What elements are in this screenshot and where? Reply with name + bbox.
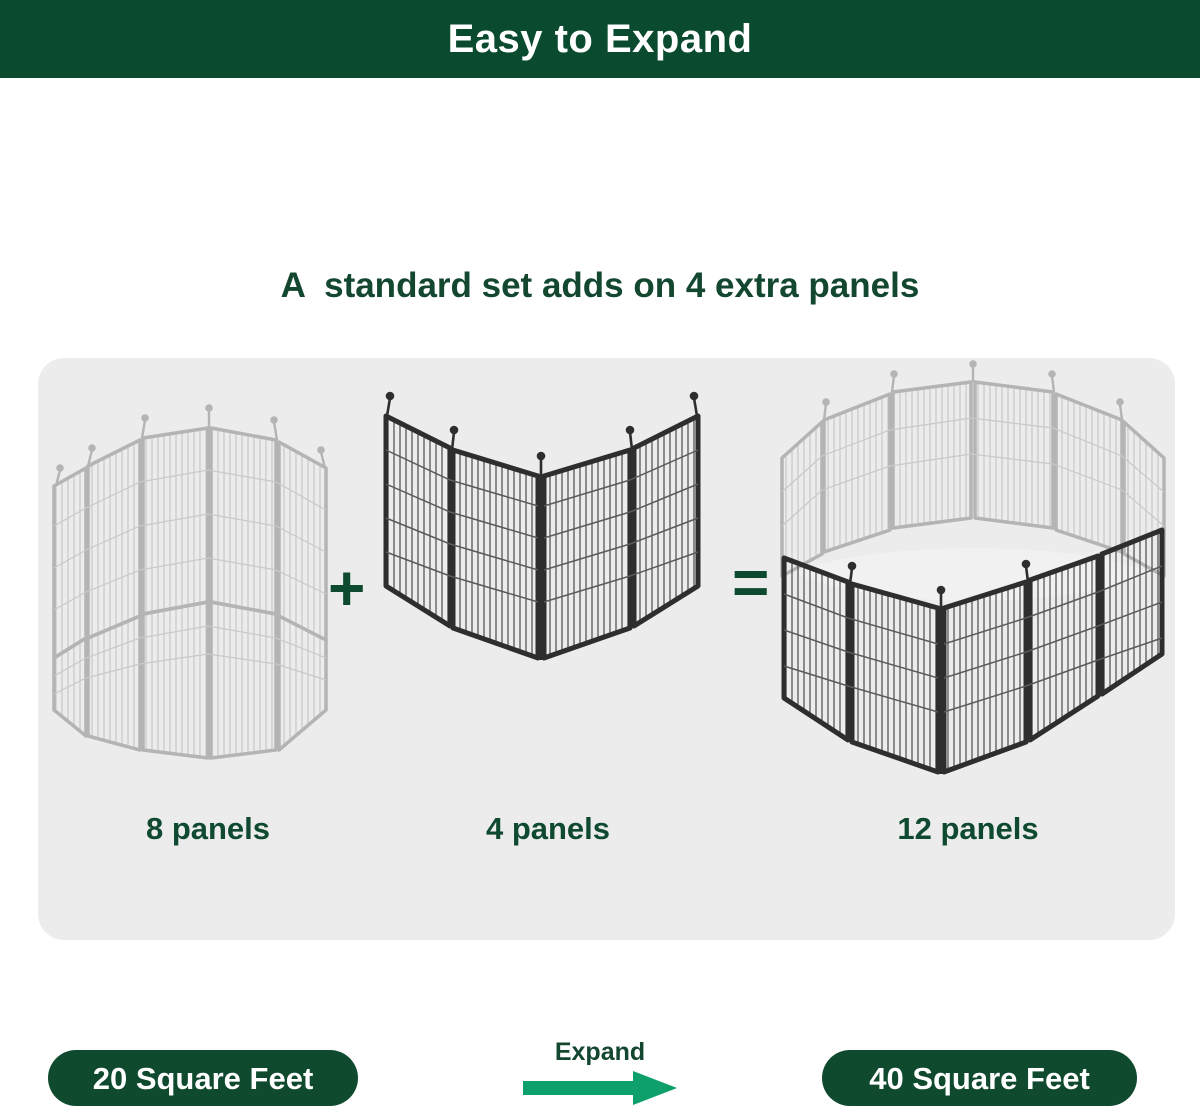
footer-row: 20 Square Feet Expand 40 Square Feet (0, 1040, 1200, 1117)
extension-4-panel-illustration (368, 358, 728, 798)
arrow-right-icon (505, 1071, 695, 1111)
dodecagon-back-panels (782, 382, 1164, 576)
subtitle-line-1: A standard set adds on 4 extra panels (0, 262, 1200, 309)
equals-operator-icon: = (732, 550, 769, 614)
caption-12-panels: 12 panels (773, 813, 1163, 844)
illustration-row: + = (38, 358, 1175, 798)
page-title: Easy to Expand (448, 19, 753, 59)
expand-label: Expand (505, 1040, 695, 1065)
header-banner: Easy to Expand (0, 0, 1200, 78)
expand-indicator: Expand (505, 1040, 695, 1111)
playpen-8-panel-illustration (48, 358, 348, 798)
comparison-card: + = 8 panels 4 panels 12 panels (38, 358, 1175, 940)
area-badge-before: 20 Square Feet (48, 1050, 358, 1106)
plus-operator-icon: + (328, 556, 365, 620)
area-badge-after: 40 Square Feet (822, 1050, 1137, 1106)
caption-8-panels: 8 panels (58, 813, 358, 844)
playpen-12-panel-illustration (778, 358, 1168, 798)
figure-captions: 8 panels 4 panels 12 panels (38, 813, 1175, 873)
caption-4-panels: 4 panels (368, 813, 728, 844)
